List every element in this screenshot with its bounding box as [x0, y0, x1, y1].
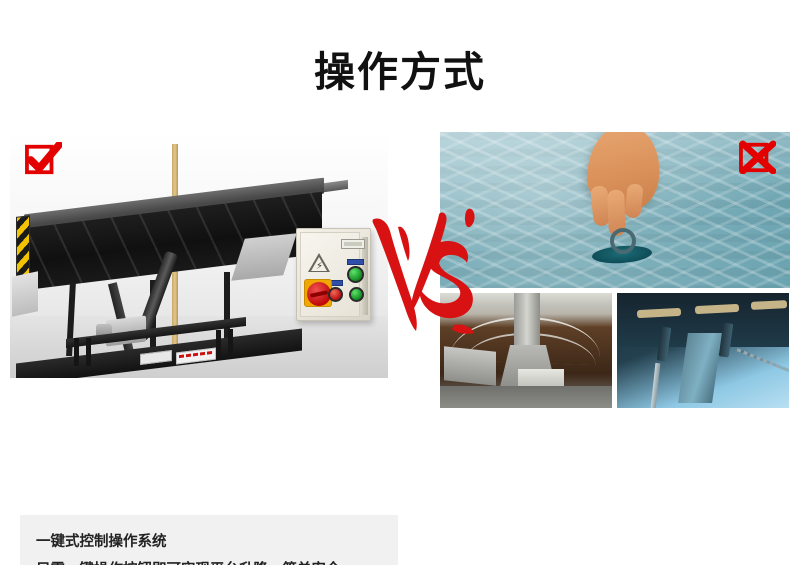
page-title: 操作方式 [0, 50, 800, 95]
deck-side-plate [12, 271, 38, 317]
control-display [341, 239, 365, 249]
lower-button[interactable] [349, 287, 364, 302]
check-mark-icon [24, 142, 62, 176]
metal-rod [651, 363, 661, 408]
left-caption-heading: 一键式控制操作系统 [36, 529, 382, 556]
control-box[interactable]: ⚡ [296, 228, 371, 321]
support-bar-underside-photo [440, 293, 612, 408]
left-caption: 一键式控制操作系统 只需一键操作按钮即可实现平台升降，简单安全。 [20, 515, 398, 565]
start-button[interactable] [347, 266, 364, 283]
pull-ring [610, 228, 636, 254]
hazard-stripe [16, 215, 30, 279]
lightning-bolt-icon: ⚡ [316, 262, 323, 272]
frame-post [74, 338, 79, 366]
right-bottom-photo-row [440, 293, 790, 408]
floor-band [440, 386, 612, 408]
frame-post [228, 329, 233, 357]
stop-button[interactable] [328, 287, 343, 302]
left-comparison-panel: ⚡ 一键式控制操作系统 只需一键操作按钮即可实现平台升降，简单安全。 [10, 132, 388, 378]
right-comparison-panel: 平台复位状态下靠台面板有两条支撑杆承重，在货车低于月台高度时，需要通过手动拉链将… [440, 132, 790, 288]
cross-mark-icon [738, 140, 776, 174]
frame-post [86, 338, 91, 366]
left-caption-body: 只需一键操作按钮即可实现平台升降，简单安全。 [36, 557, 382, 565]
pull-chain [737, 348, 789, 373]
dock-leveler-photo: ⚡ [10, 132, 388, 378]
button-label-tag [347, 259, 364, 265]
manual-pull-ring-photo [440, 132, 790, 288]
steel-plate [444, 346, 496, 385]
slide-root: 操作方式 [0, 0, 800, 565]
frame-post [216, 330, 221, 358]
support-bar-with-chain-photo [617, 293, 789, 408]
